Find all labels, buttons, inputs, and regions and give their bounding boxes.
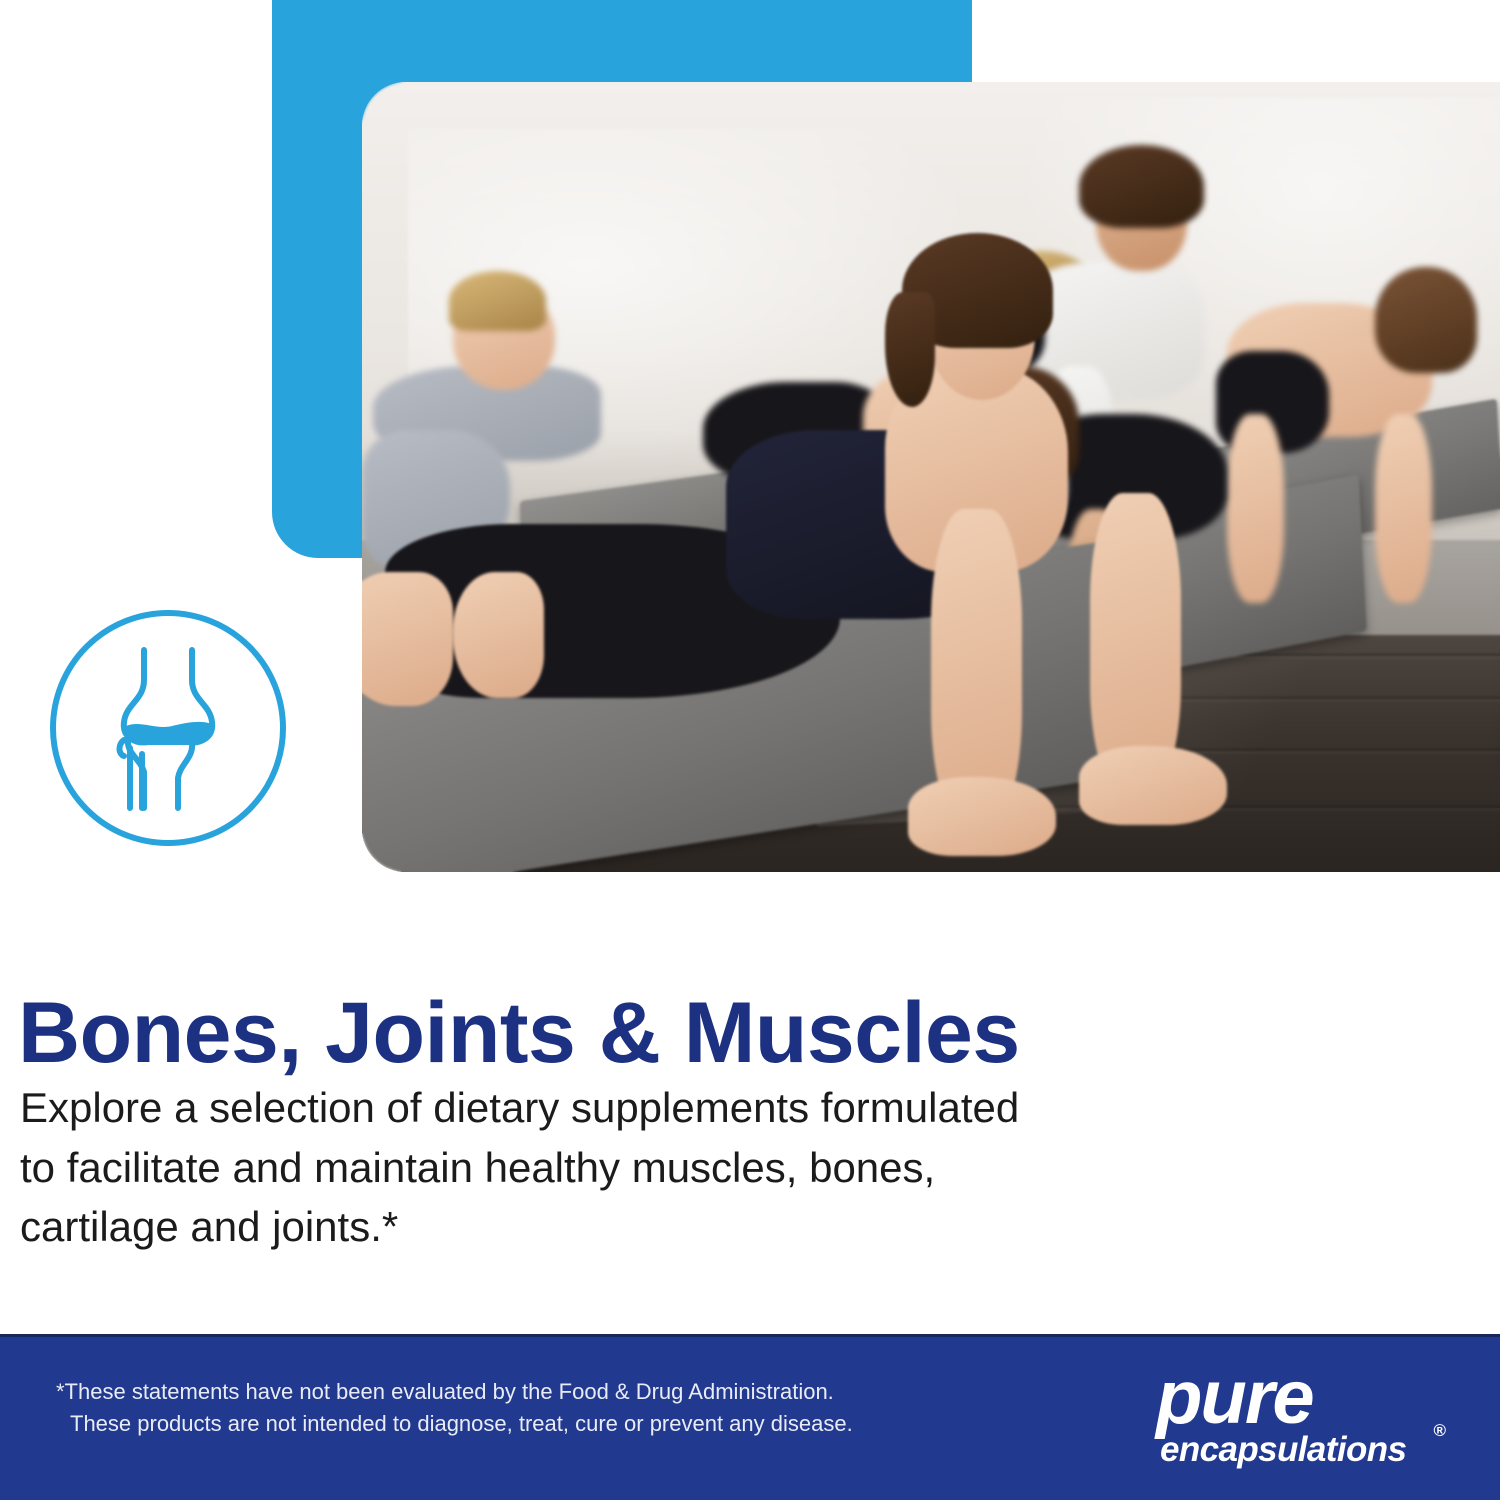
person-figure-foreground [362, 572, 453, 706]
pure-encapsulations-logo: pure encapsulations ® [1148, 1366, 1448, 1478]
person-figure [453, 287, 555, 390]
disclaimer-line-2: These products are not intended to diagn… [56, 1408, 956, 1440]
description-line-3: cartilage and joints.* [20, 1197, 1420, 1257]
promo-banner: Bones, Joints & Muscles Explore a select… [0, 0, 1500, 1500]
disclaimer-line-1: *These statements have not been evaluate… [56, 1376, 956, 1408]
knee-joint-icon [48, 608, 288, 848]
person-figure-foreground-head [908, 240, 1056, 414]
footer-top-rule [0, 1334, 1500, 1337]
person-figure [1375, 414, 1432, 604]
description-line-2: to facilitate and maintain healthy muscl… [20, 1138, 1420, 1198]
description-line-1: Explore a selection of dietary supplemen… [20, 1078, 1420, 1138]
description-text: Explore a selection of dietary supplemen… [20, 1078, 1420, 1257]
person-figure [1227, 414, 1284, 604]
registered-trademark-icon: ® [1433, 1422, 1446, 1439]
hero-photo [362, 82, 1500, 872]
person-figure [1375, 272, 1477, 398]
person-figure-foreground-hand [1079, 746, 1227, 825]
logo-wordmark-encapsulations: encapsulations [1160, 1432, 1406, 1467]
page-title: Bones, Joints & Muscles [18, 990, 1020, 1076]
person-figure-foreground [453, 572, 544, 698]
person-figure [1079, 145, 1204, 279]
person-figure-foreground-hand [908, 777, 1056, 856]
fda-disclaimer: *These statements have not been evaluate… [56, 1376, 956, 1440]
logo-wordmark-pure: pure [1156, 1360, 1313, 1436]
